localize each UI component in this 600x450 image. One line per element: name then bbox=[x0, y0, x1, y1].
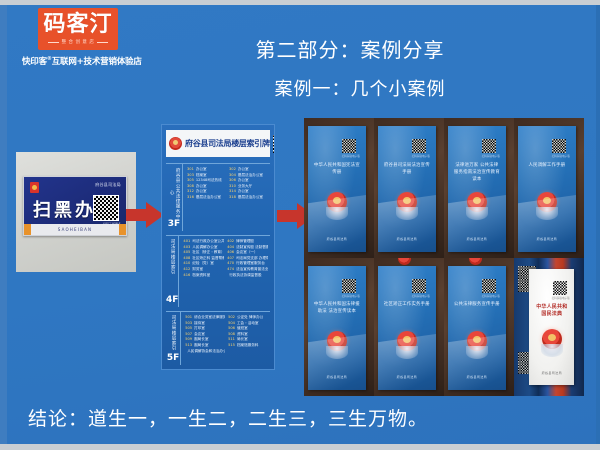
room-entry: 行政执法协调监督股 bbox=[227, 273, 268, 279]
room-name: 档案馆服务科 bbox=[237, 343, 259, 347]
room-number: 402 bbox=[227, 239, 234, 243]
booklet-title: 中华人民共和国民法典 bbox=[534, 304, 570, 318]
booklet-footer: 府谷县司法局 bbox=[378, 375, 435, 379]
room-name: 办公室 bbox=[196, 184, 207, 188]
room-number: 503 bbox=[185, 321, 192, 325]
room-number: 308 bbox=[187, 184, 194, 188]
booklet-cover: 扫码获取电子版 社区矫正工作实务手册 府谷县司法局 bbox=[378, 266, 435, 390]
national-emblem-icon bbox=[394, 331, 420, 359]
room-name: 接待室 bbox=[194, 321, 205, 325]
national-emblem-icon bbox=[324, 331, 350, 359]
room-number: 302 bbox=[229, 167, 236, 171]
floor-label: 司法局楼层索引 4F bbox=[166, 236, 179, 307]
directory-board-title: 府谷县司法局楼层索引牌 bbox=[185, 138, 270, 149]
slide-edge-left bbox=[0, 0, 7, 450]
room-name: 资料室 bbox=[237, 332, 248, 336]
photo-booklet-grid: 扫码获取电子版 中华人民共和国宪法宣传册 府谷县司法局 扫码获取电子版 府谷县司… bbox=[304, 118, 584, 396]
room-number: 504 bbox=[228, 321, 235, 325]
room-entry: 316基层法治办公室 bbox=[187, 195, 226, 201]
room-entry: 416档案资料室 bbox=[183, 273, 224, 279]
booklet-footer: 府谷县司法局 bbox=[448, 375, 505, 379]
booklet-title: 法律进万家 公共法律服务指南法治宣传教育读本 bbox=[454, 162, 500, 183]
booklet-title: 人民调解工作手册 bbox=[524, 162, 570, 169]
floor-label: 司法局楼层索引 5F bbox=[166, 312, 181, 365]
room-number: 306 bbox=[229, 178, 236, 182]
room-name: 会议室（一） bbox=[236, 250, 258, 254]
national-emblem-icon bbox=[30, 182, 39, 193]
room-number: 501 bbox=[185, 315, 192, 319]
room-name: 档案室 bbox=[196, 173, 207, 177]
booklet-cover: 扫码获取电子版 中华人民共和国法律援助法 法治宣传读本 府谷县司法局 bbox=[308, 266, 365, 390]
room-name: 档案资料室 bbox=[192, 273, 210, 277]
national-emblem-icon bbox=[398, 258, 414, 266]
booklet-qr-caption: 扫码获取电子版 bbox=[412, 154, 430, 158]
room-number: 474 bbox=[227, 267, 234, 271]
presentation-slide: 码客汀 整 合 创 意 店 快印客®互联网+技术营销体验店 第二部分：案例分享 … bbox=[0, 0, 600, 450]
logo-brand-text: 码客汀 bbox=[43, 13, 112, 37]
slide-title: 第二部分：案例分享 bbox=[150, 34, 550, 63]
room-name: 业务大厅 bbox=[238, 184, 252, 188]
room-number: 470 bbox=[227, 261, 234, 265]
logo-motto-rule-right bbox=[97, 42, 108, 43]
room-number: 316 bbox=[187, 195, 194, 199]
room-name: 律师管理股 bbox=[236, 239, 254, 243]
booklet-cover: 扫码获取电子版 府谷县司法局法治宣传手册 府谷县司法局 bbox=[378, 126, 435, 252]
room-name: 社区矫正科 监督帮教股 bbox=[192, 256, 224, 260]
logo-motto-rule-left bbox=[48, 42, 59, 43]
room-name: 12348司法热线 bbox=[196, 178, 222, 182]
room-number: 310 bbox=[229, 184, 236, 188]
room-name: 值班室 bbox=[237, 326, 248, 330]
room-number: 404 bbox=[227, 245, 234, 249]
room-name: 司法行政办公室公共法律服务科 bbox=[192, 239, 224, 243]
room-number: 301 bbox=[187, 167, 194, 171]
booklet-qr-caption: 扫码获取电子版 bbox=[342, 154, 360, 158]
room-number: 502 bbox=[228, 315, 235, 319]
room-name: 公证处 律师办公 bbox=[237, 315, 263, 319]
qr-code-icon bbox=[482, 139, 496, 153]
national-emblem-icon bbox=[464, 331, 490, 359]
booklet-cell: 扫码获取电子版 公共法律服务宣传手册 府谷县司法局 bbox=[444, 258, 514, 396]
room-number: 509 bbox=[185, 337, 192, 341]
booklet-footer: 府谷县司法局 bbox=[308, 237, 365, 241]
booklet-qr-caption: 扫码获取电子版 bbox=[482, 154, 500, 158]
floor-side-label: 司法局楼层索引 bbox=[169, 239, 175, 275]
wall-sign-caption: 扫黑办 bbox=[33, 196, 96, 222]
floor-side-label: 司法局楼层索引 bbox=[170, 315, 176, 351]
room-name: 副局长室 bbox=[194, 337, 208, 341]
floor-room-list: 501综合业务室法律服务 502公证处 律师办公 503接待室 504工会・活动… bbox=[181, 312, 270, 365]
room-name: 会议室 bbox=[194, 332, 205, 336]
qr-code-icon bbox=[552, 139, 566, 153]
logo-motto-row: 整 合 创 意 店 bbox=[48, 39, 109, 45]
room-name: 工会・活动室 bbox=[237, 321, 259, 325]
qr-code-icon bbox=[482, 279, 496, 293]
booklet-cell: 扫码获取电子版 中华人民共和国民法典 府谷县司法局 bbox=[514, 258, 584, 396]
photo-directory-board: 府谷县司法局楼层索引牌 府谷县公共法律服务中心 3F 301办公室 302办公室… bbox=[161, 124, 275, 370]
room-number: 505 bbox=[185, 326, 192, 330]
room-name: 打印室 bbox=[194, 326, 205, 330]
booklet-footer: 府谷县司法局 bbox=[378, 237, 435, 241]
room-name: 办公室 bbox=[196, 167, 207, 171]
room-number: 416 bbox=[183, 273, 190, 277]
qr-code-icon bbox=[412, 279, 426, 293]
booklet-footer: 府谷县司法局 bbox=[518, 237, 575, 241]
booklet-footer: 府谷县司法局 bbox=[529, 371, 574, 375]
room-number: 304 bbox=[229, 173, 236, 177]
booklet-cover: 扫码获取电子版 公共法律服务宣传手册 府谷县司法局 bbox=[448, 266, 505, 390]
floor-number: 4F bbox=[166, 295, 178, 305]
wall-sign-pinyin-strip: SAOHEIBAN bbox=[24, 224, 126, 235]
wall-sign-pinyin: SAOHEIBAN bbox=[58, 227, 92, 232]
booklet-qr-caption: 扫码获取电子版 bbox=[482, 294, 500, 298]
room-name: 办公室 bbox=[238, 189, 249, 193]
room-number: 401 bbox=[183, 239, 190, 243]
slide-edge-right bbox=[596, 0, 600, 450]
room-name: 办公室 bbox=[196, 189, 207, 193]
room-name: 法治宣传教育普法业务部 bbox=[236, 267, 268, 271]
national-emblem-icon bbox=[539, 329, 565, 357]
booklet-cell: 扫码获取电子版 人民调解工作手册 府谷县司法局 bbox=[514, 118, 584, 258]
booklet-title: 府谷县司法局法治宣传手册 bbox=[384, 162, 430, 176]
booklet-title: 公共法律服务宣传手册 bbox=[454, 301, 500, 308]
booklet-row: 扫码获取电子版 中华人民共和国宪法宣传册 府谷县司法局 扫码获取电子版 府谷县司… bbox=[304, 118, 584, 258]
directory-board-header: 府谷县司法局楼层索引牌 bbox=[166, 130, 270, 157]
floor-number: 3F bbox=[168, 219, 180, 229]
room-entry: 318基层法治办公室 bbox=[229, 195, 268, 201]
room-number: 318 bbox=[229, 195, 236, 199]
room-name: 行政管理室服务台 bbox=[236, 261, 265, 265]
room-entry: 515档案馆服务科 bbox=[228, 343, 268, 349]
booklet-cell: 扫码获取电子版 中华人民共和国宪法宣传册 府谷县司法局 bbox=[304, 118, 374, 258]
logo-tagline: 快印客®互联网+技术营销体验店 bbox=[22, 55, 134, 67]
room-name: 基层法治办公室 bbox=[238, 173, 263, 177]
directory-floor-section: 府谷县公共法律服务中心 3F 301办公室 302办公室 303档案室 304基… bbox=[166, 163, 270, 231]
booklet-qr-caption: 扫码获取电子版 bbox=[342, 294, 360, 298]
arrow-shaft bbox=[126, 209, 148, 221]
room-name: 办公室 bbox=[238, 167, 249, 171]
slide-conclusion: 结论：道生一，一生二，二生三，三生万物。 bbox=[28, 404, 428, 431]
floor-room-list: 301办公室 302办公室 303档案室 304基层法治办公室 30512348… bbox=[183, 164, 270, 231]
floor-side-label: 府谷县公共法律服务中心 bbox=[168, 167, 180, 219]
booklet-cell: 扫码获取电子版 府谷县司法局法治宣传手册 府谷县司法局 bbox=[374, 118, 444, 258]
room-number: 303 bbox=[187, 173, 194, 177]
logo-motto-text: 整 合 创 意 店 bbox=[62, 39, 95, 45]
booklet-cell: 扫码获取电子版 中华人民共和国法律援助法 法治宣传读本 府谷县司法局 bbox=[304, 258, 374, 396]
qr-code-icon bbox=[342, 139, 356, 153]
room-name: 社区（矫正・教育）帮扶科教科 bbox=[192, 250, 224, 254]
room-number: 408 bbox=[183, 256, 190, 260]
slide-edge-top bbox=[0, 0, 600, 5]
room-name: 综合业务室法律服务 bbox=[194, 315, 225, 319]
slide-subtitle: 案例一：几个小案例 bbox=[160, 75, 560, 101]
room-name: 办公室 bbox=[238, 178, 249, 182]
room-number: 511 bbox=[228, 337, 235, 341]
photo-wall-sign: 府谷县司法局 扫黑办 扫码了解更多 SAOHEIBAN bbox=[16, 152, 136, 272]
room-name: 行政执法协调监督股 bbox=[229, 273, 261, 277]
room-name: 法制宣传股 法制督察股 bbox=[236, 245, 268, 249]
qr-code-icon bbox=[273, 135, 275, 153]
room-name: 副局长室 bbox=[194, 343, 208, 347]
booklet-title: 社区矫正工作实务手册 bbox=[384, 301, 430, 308]
booklet-qr-caption: 扫码获取电子版 bbox=[552, 296, 570, 300]
room-name: 人民调解协会和法治办公室 bbox=[187, 349, 225, 353]
booklet-cover: 扫码获取电子版 人民调解工作手册 府谷县司法局 bbox=[518, 126, 575, 252]
room-number: 515 bbox=[228, 343, 235, 347]
qr-code-icon bbox=[93, 195, 119, 221]
room-number: 508 bbox=[228, 332, 235, 336]
qr-code-icon bbox=[412, 139, 426, 153]
floor-label: 府谷县公共法律服务中心 3F bbox=[166, 164, 183, 231]
logo-tagline-rest: 互联网+技术营销体验店 bbox=[52, 57, 142, 67]
arrow-shaft bbox=[277, 210, 299, 222]
booklet-cell: 扫码获取电子版 法律进万家 公共法律服务指南法治宣传教育读本 府谷县司法局 bbox=[444, 118, 514, 258]
national-emblem-icon bbox=[464, 192, 490, 220]
room-number: 305 bbox=[187, 178, 194, 182]
booklet-cover: 扫码获取电子版 法律进万家 公共法律服务指南法治宣传教育读本 府谷县司法局 bbox=[448, 126, 505, 252]
booklet-cover: 扫码获取电子版 中华人民共和国宪法宣传册 府谷县司法局 bbox=[308, 126, 365, 252]
national-emblem-icon bbox=[324, 192, 350, 220]
room-number: 405 bbox=[183, 250, 190, 254]
room-number: 406 bbox=[227, 250, 234, 254]
booklet-cover: 扫码获取电子版 中华人民共和国民法典 府谷县司法局 bbox=[529, 269, 574, 385]
room-name: 基层法治办公室 bbox=[196, 195, 221, 199]
logo-tagline-brand: 快印客 bbox=[22, 57, 47, 67]
booklet-title: 中华人民共和国法律援助法 法治宣传读本 bbox=[314, 301, 360, 315]
booklet-qr-caption: 扫码获取电子版 bbox=[412, 294, 430, 298]
room-number: 513 bbox=[185, 343, 192, 347]
room-number: 507 bbox=[185, 332, 192, 336]
national-emblem-icon bbox=[534, 192, 560, 220]
room-entry: 人民调解协会和法治办公室 bbox=[185, 349, 225, 355]
arrow-right-icon bbox=[126, 202, 164, 228]
wall-sign-plate: 府谷县司法局 扫黑办 扫码了解更多 SAOHEIBAN bbox=[23, 176, 127, 236]
floor-room-list: 401司法行政办公室公共法律服务科 402律师管理股 403人民调解办公室 40… bbox=[179, 236, 270, 307]
room-number: 412 bbox=[183, 267, 190, 271]
floor-number: 5F bbox=[167, 353, 179, 363]
room-number: 407 bbox=[227, 256, 234, 260]
directory-floor-section: 司法局楼层索引 5F 501综合业务室法律服务 502公证处 律师办公 503接… bbox=[166, 311, 270, 365]
booklet-footer: 府谷县司法局 bbox=[448, 237, 505, 241]
wall-sign-org: 府谷县司法局 bbox=[95, 182, 121, 188]
logo-badge: 码客汀 整 合 创 意 店 bbox=[38, 8, 118, 50]
national-emblem-icon bbox=[394, 192, 420, 220]
booklet-cell: 扫码获取电子版 社区矫正工作实务手册 府谷县司法局 bbox=[374, 258, 444, 396]
room-number: 314 bbox=[229, 189, 236, 193]
room-name: 人民调解办公室 bbox=[192, 245, 217, 249]
directory-floor-section: 司法局楼层索引 4F 401司法行政办公室公共法律服务科 402律师管理股 40… bbox=[166, 235, 270, 307]
booklet-row: 扫码获取电子版 中华人民共和国法律援助法 法治宣传读本 府谷县司法局 扫码获取电… bbox=[304, 258, 584, 396]
room-number: 506 bbox=[228, 326, 235, 330]
national-emblem-icon bbox=[169, 137, 182, 150]
booklet-title: 中华人民共和国宪法宣传册 bbox=[314, 162, 360, 176]
qr-code-icon bbox=[553, 281, 567, 295]
room-number: 312 bbox=[187, 189, 194, 193]
room-name: 财务室 bbox=[192, 267, 203, 271]
national-emblem-icon bbox=[469, 258, 485, 266]
room-name: 基层法治办公室 bbox=[238, 195, 263, 199]
room-number: 410 bbox=[183, 261, 190, 265]
slide-edge-bottom bbox=[0, 444, 600, 450]
brand-logo: 码客汀 整 合 创 意 店 快印客®互联网+技术营销体验店 bbox=[22, 8, 134, 67]
room-name: 司法局党支部 办理帮助室 bbox=[236, 256, 268, 260]
booklet-footer: 府谷县司法局 bbox=[308, 375, 365, 379]
room-name: 局长室 bbox=[237, 337, 248, 341]
room-name: 纪检（党）室 bbox=[192, 261, 214, 265]
qr-code-icon bbox=[342, 279, 356, 293]
room-number: 403 bbox=[183, 245, 190, 249]
booklet-qr-caption: 扫码获取电子版 bbox=[552, 154, 570, 158]
